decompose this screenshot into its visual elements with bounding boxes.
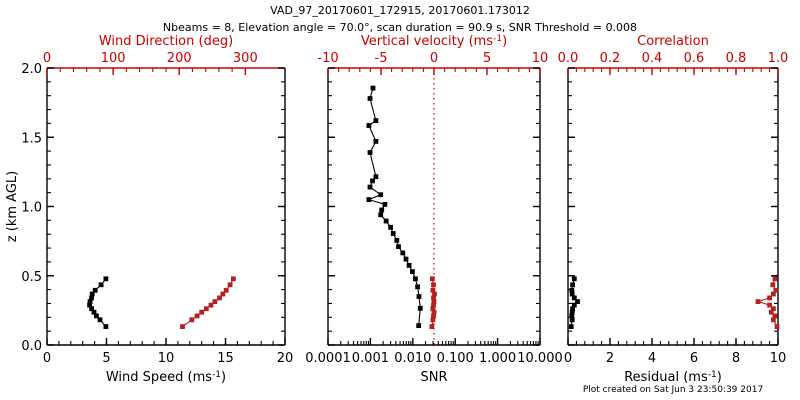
panel-snr-data-point	[430, 324, 435, 329]
panel-wind-xtick-label: 10	[158, 351, 175, 366]
panel-snr-data-point	[388, 225, 393, 230]
panel-snr-xlabel: SNR	[420, 370, 447, 385]
panel-snr-data-point	[367, 123, 372, 128]
panel-residual-xtick-top-label: 0.4	[642, 51, 663, 66]
panel-snr-series-line	[369, 88, 420, 326]
panel-residual: 02468100.00.20.40.60.81.0Residual (ms-1)…	[558, 34, 789, 385]
panel-residual-xtick-label: 4	[648, 351, 656, 366]
y-tick-label: 0.5	[21, 270, 42, 285]
panel-snr-xlabel-top: Vertical velocity (ms-1)	[361, 34, 507, 49]
panel-wind-data-point	[228, 282, 233, 287]
panel-wind-data-point	[189, 317, 194, 322]
panel-wind-data-point	[98, 317, 103, 322]
panel-residual-xtick-top-label: 0.2	[600, 51, 621, 66]
panel-wind-xlabel-top: Wind Direction (deg)	[99, 34, 233, 49]
panel-residual-data-point	[767, 296, 772, 301]
panel-residual-xtick-top-label: 1.0	[768, 51, 789, 66]
panel-snr-data-point	[370, 179, 375, 184]
panel-wind-xtick-label: 5	[102, 351, 110, 366]
panel-snr-data-point	[430, 276, 435, 281]
panel-wind-data-point	[231, 276, 236, 281]
y-tick-label: 2.0	[21, 62, 42, 77]
panel-snr-data-point	[404, 257, 409, 262]
panel-wind-data-point	[180, 324, 185, 329]
panel-snr-xtick-top-label: 10	[532, 51, 549, 66]
panel-snr-data-point	[410, 269, 415, 274]
panel-snr-data-point	[374, 118, 379, 123]
panel-wind-xtick-top-label: 300	[233, 51, 258, 66]
panel-residual-xtick-label: 0	[564, 351, 572, 366]
panel-wind: 0510152001002003000.00.51.01.52.0Wind Sp…	[21, 34, 293, 385]
panel-residual-data-point	[770, 282, 775, 287]
panel-snr-data-point	[371, 86, 376, 91]
panel-snr-data-point	[416, 323, 421, 328]
panel-snr-data-point	[368, 96, 373, 101]
panel-residual-data-point	[771, 317, 776, 322]
panel-wind-data-point	[104, 324, 109, 329]
panel-residual-xtick-label: 2	[606, 351, 614, 366]
panel-snr-data-point	[383, 202, 388, 207]
panel-snr-data-point	[413, 276, 418, 281]
panel-residual-xtick-label: 8	[732, 351, 740, 366]
panel-residual-data-point	[569, 324, 574, 329]
panel-wind-xtick-label: 15	[217, 351, 234, 366]
panel-snr-xtick-label: 0.001	[352, 351, 389, 366]
panel-residual-data-point	[775, 324, 780, 329]
panel-wind-data-point	[217, 296, 222, 301]
panel-residual-xlabel-top: Correlation	[637, 34, 709, 49]
y-tick-label: 0.0	[21, 339, 42, 354]
panel-snr-xtick-label: 0.100	[437, 351, 474, 366]
plot-created-caption: Plot created on Sat Jun 3 23:50:39 2017	[583, 385, 763, 395]
panel-snr-data-point	[415, 284, 420, 289]
panel-wind-xtick-top-label: 0	[43, 51, 51, 66]
panel-snr-data-point	[368, 150, 373, 155]
y-axis-label: z (km AGL)	[5, 171, 20, 242]
panel-snr-data-point	[374, 139, 379, 144]
panel-snr-data-point	[374, 174, 379, 179]
panel-wind-data-point	[104, 276, 109, 281]
panel-snr-data-point	[379, 208, 384, 213]
panel-residual-xtick-top-label: 0.0	[558, 51, 579, 66]
panel-snr-data-point	[431, 317, 436, 322]
panel-snr-data-point	[367, 197, 372, 202]
panel-snr-xtick-top-label: 0	[430, 51, 438, 66]
panel-residual-data-point	[570, 282, 575, 287]
panel-wind-xtick-top-label: 200	[167, 51, 192, 66]
panel-snr-data-point	[391, 231, 396, 236]
panel-snr-data-point	[378, 212, 383, 217]
panel-snr: 0.00010.0010.0100.1001.00010.000-10-5051…	[305, 34, 563, 385]
panel-wind-data-point	[204, 306, 209, 311]
panel-residual-xtick-label: 6	[690, 351, 698, 366]
panel-snr-data-point	[394, 238, 399, 243]
panel-snr-xtick-top-label: -5	[375, 51, 388, 66]
panel-snr-data-point	[407, 263, 412, 268]
panel-snr-xtick-label: 1.000	[479, 351, 516, 366]
panel-snr-data-point	[431, 282, 436, 287]
panel-snr-xtick-label: 10.000	[517, 351, 563, 366]
panel-snr-data-point	[400, 251, 405, 256]
panel-snr-data-point	[418, 306, 423, 311]
panel-snr-xtick-top-label: 5	[483, 51, 491, 66]
panel-snr-xtick-label: 0.0001	[305, 351, 351, 366]
panel-snr-xtick-label: 0.010	[394, 351, 431, 366]
panel-residual-xtick-top-label: 0.6	[684, 51, 705, 66]
panel-wind-data-point	[195, 314, 200, 319]
panel-residual-data-point	[756, 299, 761, 304]
panel-wind-xtick-top-label: 100	[101, 51, 126, 66]
panel-wind-xtick-label: 0	[43, 351, 51, 366]
panel-residual-data-point	[570, 317, 575, 322]
panel-wind-data-point	[199, 310, 204, 315]
panel-wind-xtick-label: 20	[277, 351, 294, 366]
panel-snr-xtick-top-label: -10	[317, 51, 338, 66]
panel-snr-data-point	[417, 294, 422, 299]
panel-snr-data-point	[378, 192, 383, 197]
panel-snr-data-point	[396, 244, 401, 249]
panel-wind-xlabel: Wind Speed (ms-1)	[106, 370, 226, 385]
panel-residual-xtick-label: 10	[770, 351, 787, 366]
vad-plot-figure: VAD_97_20170601_172915, 20170601.173012 …	[0, 0, 800, 400]
panel-residual-xlabel: Residual (ms-1)	[624, 370, 722, 385]
panel-snr-data-point	[384, 219, 389, 224]
panel-residual-data-point	[773, 276, 778, 281]
plot-canvas: 0510152001002003000.00.51.01.52.0Wind Sp…	[0, 0, 800, 400]
panel-wind-data-point	[99, 282, 104, 287]
panel-residual-data-point	[572, 276, 577, 281]
y-tick-label: 1.0	[21, 201, 42, 216]
panel-snr-data-point	[368, 185, 373, 190]
y-tick-label: 1.5	[21, 131, 42, 146]
panel-wind-data-point	[209, 303, 214, 308]
panel-residual-xtick-top-label: 0.8	[726, 51, 747, 66]
